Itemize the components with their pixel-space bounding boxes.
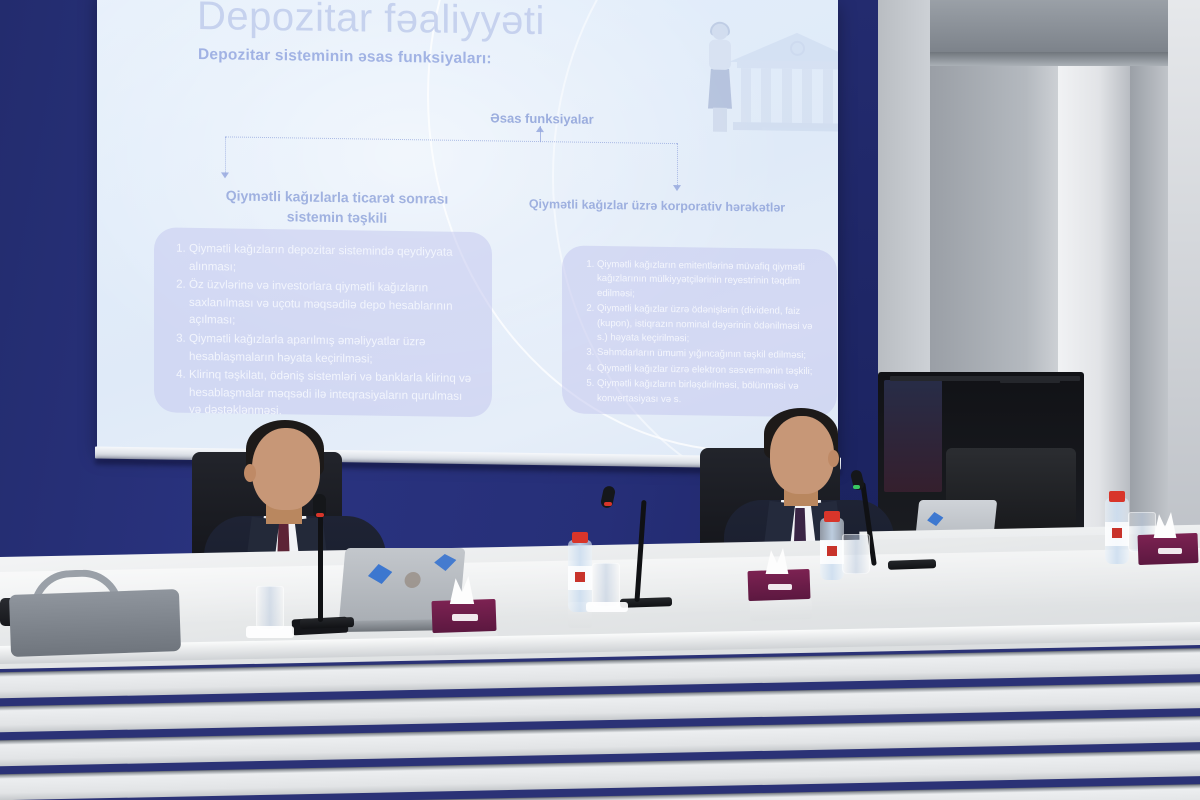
slide-title: Depozitar fəaliyyəti [197,0,545,44]
face [770,416,834,494]
laptop-bag [9,589,181,657]
diagram-right-label: Qiymətli kağızlar üzrə korporativ hərəkə… [527,195,787,217]
diagram-root-label: Əsas funksiyalar [462,110,622,127]
ear [828,450,839,467]
bank-columns [741,68,838,126]
laptop-sticker-icon [367,564,393,584]
diagram-arrow-root [536,126,544,132]
soffit-edge [930,52,1200,66]
napkin [586,602,628,612]
projection-screen: Depozitar fəaliyyəti Depozitar sistemini… [97,0,838,461]
bottle-label [820,540,844,564]
microphone-led-right [853,485,860,489]
slide-right-card: Qiymətli kağızların emitentlərinə müvafi… [562,245,837,417]
microphone-led-center [604,502,612,506]
list-item: Öz üzvlərinə və investorlara qiymətli ka… [189,276,476,333]
diagram-arrow-left [221,172,229,178]
list-item: Qiymətli kağızların emitentlərinə müvafi… [597,258,821,304]
bottle-cap-right [824,511,840,522]
list-item: Qiymətli kağızlar üzrə ödənişlərin (divi… [597,302,821,348]
microphone-base-left [300,617,354,629]
bank-base [733,122,838,132]
water-bottle-right [820,518,844,580]
bottle-cap-far-right [1109,491,1125,502]
napkin [246,626,294,638]
ceiling-soffit [930,0,1200,60]
tissue-box-logo [768,584,792,590]
diagram-left-label: Qiymətli kağızlarla ticarət sonrası sist… [202,185,472,230]
water-bottle-far-right [1105,498,1129,564]
bottle-cap-center [572,532,588,543]
bank-building-illustration [697,1,838,134]
column-shadow [1130,20,1170,550]
diagram-connector-right [677,143,678,187]
table-reflection [750,599,813,621]
bottle-label [568,566,592,590]
table-reflection [568,602,592,628]
diagram-arrow-right [673,185,681,191]
microphone-stem-left [318,510,323,622]
face [252,428,320,510]
microphone-base-right [888,559,936,570]
diagram-connector-left [225,136,226,174]
drinking-glass-left [256,586,284,630]
list-item: Qiymətli kağızların depozitar sistemində… [189,240,476,279]
slide-right-list: Qiymətli kağızların emitentlərinə müvafi… [578,258,821,410]
slide-left-card: Qiymətli kağızların depozitar sistemində… [154,227,492,417]
conference-room-photo: Depozitar fəaliyyəti Depozitar sistemini… [0,0,1200,800]
list-item: Klirinq təşkilatı, ödəniş sistemləri və … [189,366,476,423]
list-item: Qiymətli kağızların birləşdirilməsi, böl… [597,377,821,409]
bank-roof [729,32,838,64]
ear [244,464,256,482]
bottle-label [1105,522,1129,546]
laptop-sticker-icon [433,554,456,571]
drinking-glass-right [842,534,870,574]
tissue-box-logo [452,614,478,621]
microphone-led-left [316,513,324,517]
bank-pediment-emblem [790,41,805,56]
list-item: Qiymətli kağızlarla aparılmış əməliyyatl… [189,330,476,369]
laptop-sticker-icon [404,572,421,588]
slide-left-list: Qiymətli kağızların depozitar sistemində… [170,240,476,424]
rack-slot [1000,378,1060,383]
table-reflection [434,631,499,655]
drinking-glass-center [592,563,620,607]
tissue-box-logo [1158,548,1182,554]
